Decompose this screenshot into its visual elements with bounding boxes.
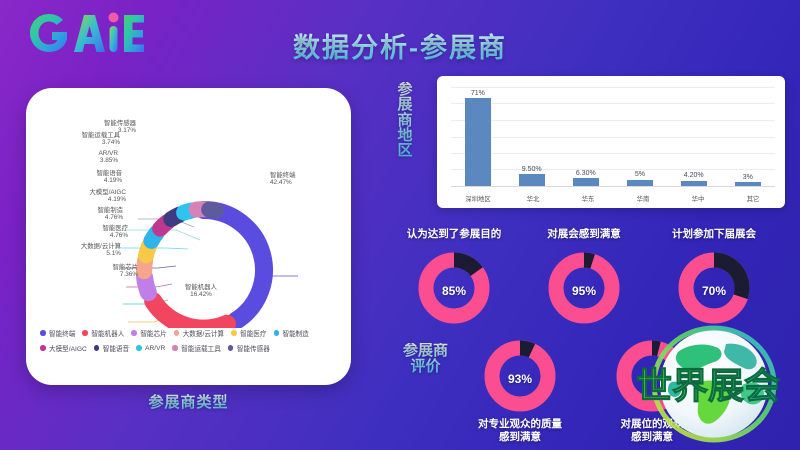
page-title: 数据分析-参展商 bbox=[0, 26, 800, 65]
legend-label: 智能医疗 bbox=[240, 328, 266, 338]
x-tick-label: 华北 bbox=[506, 194, 560, 203]
legend-label: 智能运载工具 bbox=[181, 343, 221, 353]
legend-label: 智能芯片 bbox=[140, 328, 166, 338]
donut-label-4: 大模型/AIGC4.19% bbox=[28, 189, 126, 203]
gauge-audience-quality[interactable]: 93% 对专业观众的质量 感到满意 bbox=[482, 338, 558, 419]
legend-item: 智能语音 bbox=[94, 343, 129, 353]
bar-column[interactable]: 5% bbox=[613, 87, 667, 186]
bar-rect[interactable] bbox=[573, 178, 599, 186]
gauge-value: 70% bbox=[676, 250, 752, 331]
donut-label-5: 智能制造4.76% bbox=[36, 207, 123, 221]
eval-label-line2: 评价 bbox=[378, 359, 473, 375]
exhibitor-region-bar-chart: 71% 9.50% 6.30% 5% bbox=[451, 87, 775, 186]
donut-label-8: 智能芯片7.36% bbox=[54, 264, 138, 278]
slide-root: 数据分析-参展商 bbox=[0, 0, 800, 450]
exhibitor-evaluation-label: 参展商 评价 bbox=[378, 343, 473, 375]
legend-item: 大数据/云计算 bbox=[174, 328, 224, 338]
donut-label-7: 大数据/云计算5.1% bbox=[26, 243, 121, 257]
donut-label-10: 智能终端42.47% bbox=[270, 172, 350, 186]
x-tick-label: 其它 bbox=[726, 194, 780, 203]
bar-rect[interactable] bbox=[519, 174, 545, 186]
bar-value-label: 4.20% bbox=[684, 172, 704, 179]
bar-rect[interactable] bbox=[465, 98, 491, 186]
gauge-ring: 93% bbox=[482, 338, 558, 419]
legend-label: AR/VR bbox=[145, 345, 165, 352]
legend-label: 智能终端 bbox=[49, 328, 75, 338]
x-tick-label: 深圳地区 bbox=[451, 194, 505, 203]
bar-value-label: 5% bbox=[635, 171, 645, 178]
donut-label-9: 智能机器人16.42% bbox=[158, 284, 244, 298]
donut-label-1: 智能运载工具3.74% bbox=[34, 132, 120, 146]
legend-item: 智能终端 bbox=[40, 328, 75, 338]
legend-item: 智能运载工具 bbox=[172, 343, 221, 353]
donut-label-2: AR/VR3.85% bbox=[34, 150, 118, 164]
legend-label: 大数据/云计算 bbox=[183, 328, 224, 338]
bar-column[interactable]: 4.20% bbox=[667, 87, 721, 186]
legend-item: 大模型/AIGC bbox=[40, 343, 87, 353]
bar-value-label: 9.50% bbox=[522, 166, 542, 173]
exhibitor-type-title: 参展商类型 bbox=[26, 391, 351, 412]
legend-label: 智能语音 bbox=[103, 343, 129, 353]
legend-label: 智能制造 bbox=[283, 328, 309, 338]
legend-swatch bbox=[231, 330, 237, 336]
bar-column[interactable]: 3% bbox=[721, 87, 775, 186]
legend-label: 大模型/AIGC bbox=[49, 343, 87, 353]
legend-item: AR/VR bbox=[136, 343, 165, 353]
legend-swatch bbox=[274, 330, 280, 336]
exhibitor-type-card: 智能传感器3.17% 智能运载工具3.74% AR/VR3.85% 智能语音4.… bbox=[26, 88, 351, 385]
exhibitor-region-vertical-label: 参展商地区 bbox=[392, 82, 418, 158]
legend-label: 智能传感器 bbox=[237, 343, 270, 353]
donut-label-6: 智能医疗4.76% bbox=[40, 225, 128, 239]
bar-column[interactable]: 71% bbox=[451, 87, 505, 186]
donut-label-3: 智能语音4.19% bbox=[34, 170, 122, 184]
legend-swatch bbox=[94, 345, 100, 351]
legend-swatch bbox=[131, 330, 137, 336]
gauge-satisfied-with-expo[interactable]: 对展会感到满意 95% bbox=[546, 250, 622, 331]
legend-swatch bbox=[40, 345, 46, 351]
legend-item: 智能制造 bbox=[274, 328, 309, 338]
gauge-plan-next-expo[interactable]: 计划参加下届展会 70% bbox=[676, 250, 752, 331]
gauge-value: 93% bbox=[482, 338, 558, 419]
eval-label-line1: 参展商 bbox=[378, 343, 473, 359]
donut-legend: 智能终端 智能机器人 智能芯片 大数据/云计算 智能医疗 智能制造 大模型/AI… bbox=[40, 328, 340, 358]
bar-value-label: 6.30% bbox=[576, 170, 596, 177]
gauge-ring: 95% bbox=[546, 250, 622, 331]
legend-item: 智能机器人 bbox=[82, 328, 124, 338]
legend-label: 智能机器人 bbox=[91, 328, 124, 338]
gauge-caption: 计划参加下届展会 bbox=[634, 228, 794, 241]
bar-column[interactable]: 6.30% bbox=[559, 87, 613, 186]
legend-swatch bbox=[136, 345, 142, 351]
legend-swatch bbox=[174, 330, 180, 336]
gauge-value: 85% bbox=[416, 250, 492, 331]
bar-column[interactable]: 9.50% bbox=[505, 87, 559, 186]
exhibitor-region-card: 71% 9.50% 6.30% 5% bbox=[437, 76, 785, 208]
gauge-ring: 85% bbox=[416, 250, 492, 331]
bar-value-label: 3% bbox=[743, 174, 753, 181]
world-expo-watermark: 世界展会 bbox=[626, 322, 792, 450]
watermark-text: 世界展会 bbox=[636, 365, 780, 406]
legend-swatch bbox=[40, 330, 46, 336]
gauge-value: 95% bbox=[546, 250, 622, 331]
legend-item: 智能医疗 bbox=[231, 328, 266, 338]
legend-item: 智能芯片 bbox=[131, 328, 166, 338]
x-tick-label: 华南 bbox=[616, 194, 670, 203]
gauge-exhibit-goal[interactable]: 认为达到了参展目的 85% bbox=[416, 250, 492, 331]
x-tick-label: 华东 bbox=[561, 194, 615, 203]
legend-swatch bbox=[228, 345, 234, 351]
exhibitor-type-donut-chart: 智能传感器3.17% 智能运载工具3.74% AR/VR3.85% 智能语音4.… bbox=[26, 88, 351, 328]
gauge-ring: 70% bbox=[676, 250, 752, 331]
legend-item: 智能传感器 bbox=[228, 343, 270, 353]
legend-swatch bbox=[82, 330, 88, 336]
legend-swatch bbox=[172, 345, 178, 351]
x-tick-label: 华中 bbox=[671, 194, 725, 203]
bar-value-label: 71% bbox=[471, 90, 485, 97]
x-axis-line bbox=[451, 186, 775, 187]
